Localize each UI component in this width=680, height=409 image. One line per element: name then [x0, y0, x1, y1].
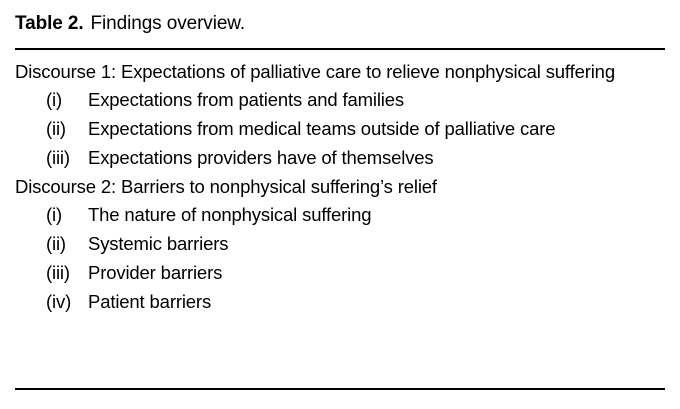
- table-body: Discourse 1: Expectations of palliative …: [15, 50, 665, 317]
- discourse-1-item-list: (i) Expectations from patients and famil…: [15, 86, 665, 172]
- discourse-2-item-list: (i) The nature of nonphysical suffering …: [15, 201, 665, 316]
- list-item: (iii) Expectations providers have of the…: [15, 144, 665, 173]
- list-item-text: Provider barriers: [88, 259, 628, 288]
- list-item-marker: (iii): [15, 259, 88, 288]
- discourse-heading-1: Discourse 1: Expectations of palliative …: [15, 58, 615, 87]
- list-item-marker: (iv): [15, 288, 88, 317]
- list-item-marker: (ii): [15, 115, 88, 144]
- discourse-section-2: Discourse 2: Barriers to nonphysical suf…: [15, 173, 665, 317]
- table-bottom-rule: [15, 388, 665, 390]
- list-item: (iv) Patient barriers: [15, 288, 665, 317]
- discourse-section-1: Discourse 1: Expectations of palliative …: [15, 58, 665, 173]
- list-item-text: Expectations providers have of themselve…: [88, 144, 628, 173]
- list-item-marker: (ii): [15, 230, 88, 259]
- table-caption: Table 2.Findings overview.: [15, 0, 665, 35]
- list-item-text: Expectations from medical teams outside …: [88, 115, 628, 144]
- table-caption-text: Findings overview.: [91, 13, 246, 34]
- list-item-text: Patient barriers: [88, 288, 628, 317]
- list-item-text: The nature of nonphysical suffering: [88, 201, 628, 230]
- table-figure: Table 2.Findings overview. Discourse 1: …: [0, 0, 680, 409]
- list-item: (iii) Provider barriers: [15, 259, 665, 288]
- list-item-marker: (i): [15, 86, 88, 115]
- list-item-text: Systemic barriers: [88, 230, 628, 259]
- discourse-heading-2: Discourse 2: Barriers to nonphysical suf…: [15, 173, 615, 202]
- list-item: (i) The nature of nonphysical suffering: [15, 201, 665, 230]
- list-item: (i) Expectations from patients and famil…: [15, 86, 665, 115]
- list-item: (ii) Expectations from medical teams out…: [15, 115, 665, 144]
- list-item-marker: (iii): [15, 144, 88, 173]
- list-item: (ii) Systemic barriers: [15, 230, 665, 259]
- list-item-text: Expectations from patients and families: [88, 86, 628, 115]
- table-caption-label: Table 2.: [15, 13, 84, 34]
- list-item-marker: (i): [15, 201, 88, 230]
